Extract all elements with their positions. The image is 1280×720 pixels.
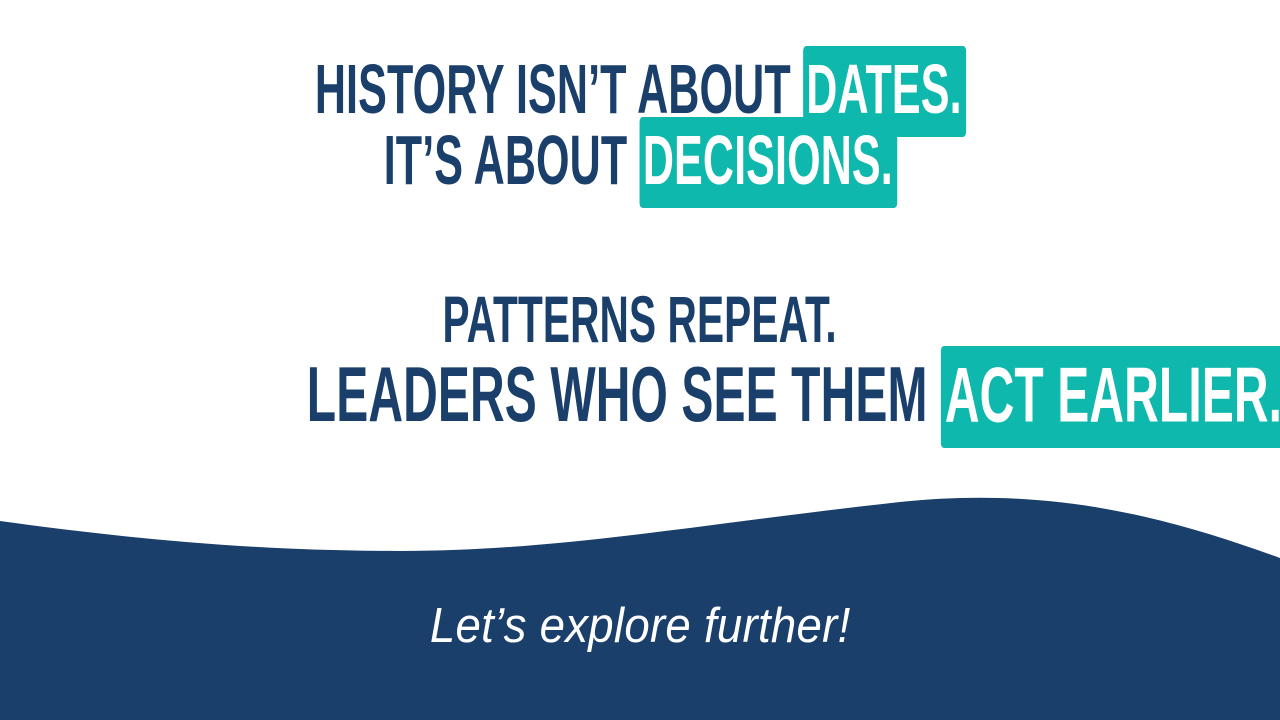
headline-line-3-inner: Patterns repeat. bbox=[443, 288, 837, 351]
headline-line-1-inner: History isn’t about Dates. bbox=[314, 56, 965, 123]
headline-line-4-inner: Leaders who see them Act earlier. bbox=[307, 357, 1280, 432]
headline-line-1-plain: History isn’t about bbox=[314, 50, 802, 128]
headline-line-2-plain: It’s about bbox=[383, 121, 639, 199]
footer-cta-text: Let’s explore further! bbox=[0, 598, 1280, 654]
headline-line-1: History isn’t about Dates. bbox=[0, 56, 1280, 123]
headline-block-secondary: Patterns repeat. Leaders who see them Ac… bbox=[0, 288, 1280, 432]
headline-line-2-inner: It’s about Decisions. bbox=[383, 127, 896, 194]
headline-line-3-plain: Patterns repeat. bbox=[443, 282, 837, 356]
highlight-act-earlier: Act earlier. bbox=[941, 346, 1280, 448]
headline-line-4-plain: Leaders who see them bbox=[307, 350, 941, 438]
headline-line-3: Patterns repeat. bbox=[0, 288, 1280, 351]
highlight-decisions: Decisions. bbox=[639, 117, 897, 208]
headline-line-2: It’s about Decisions. bbox=[0, 127, 1280, 194]
headline-line-4: Leaders who see them Act earlier. bbox=[0, 357, 1280, 432]
slide-canvas: History isn’t about Dates. It’s about De… bbox=[0, 0, 1280, 720]
footer-cta-inner: Let’s explore further! bbox=[430, 598, 851, 654]
headline-block-primary: History isn’t about Dates. It’s about De… bbox=[0, 56, 1280, 194]
